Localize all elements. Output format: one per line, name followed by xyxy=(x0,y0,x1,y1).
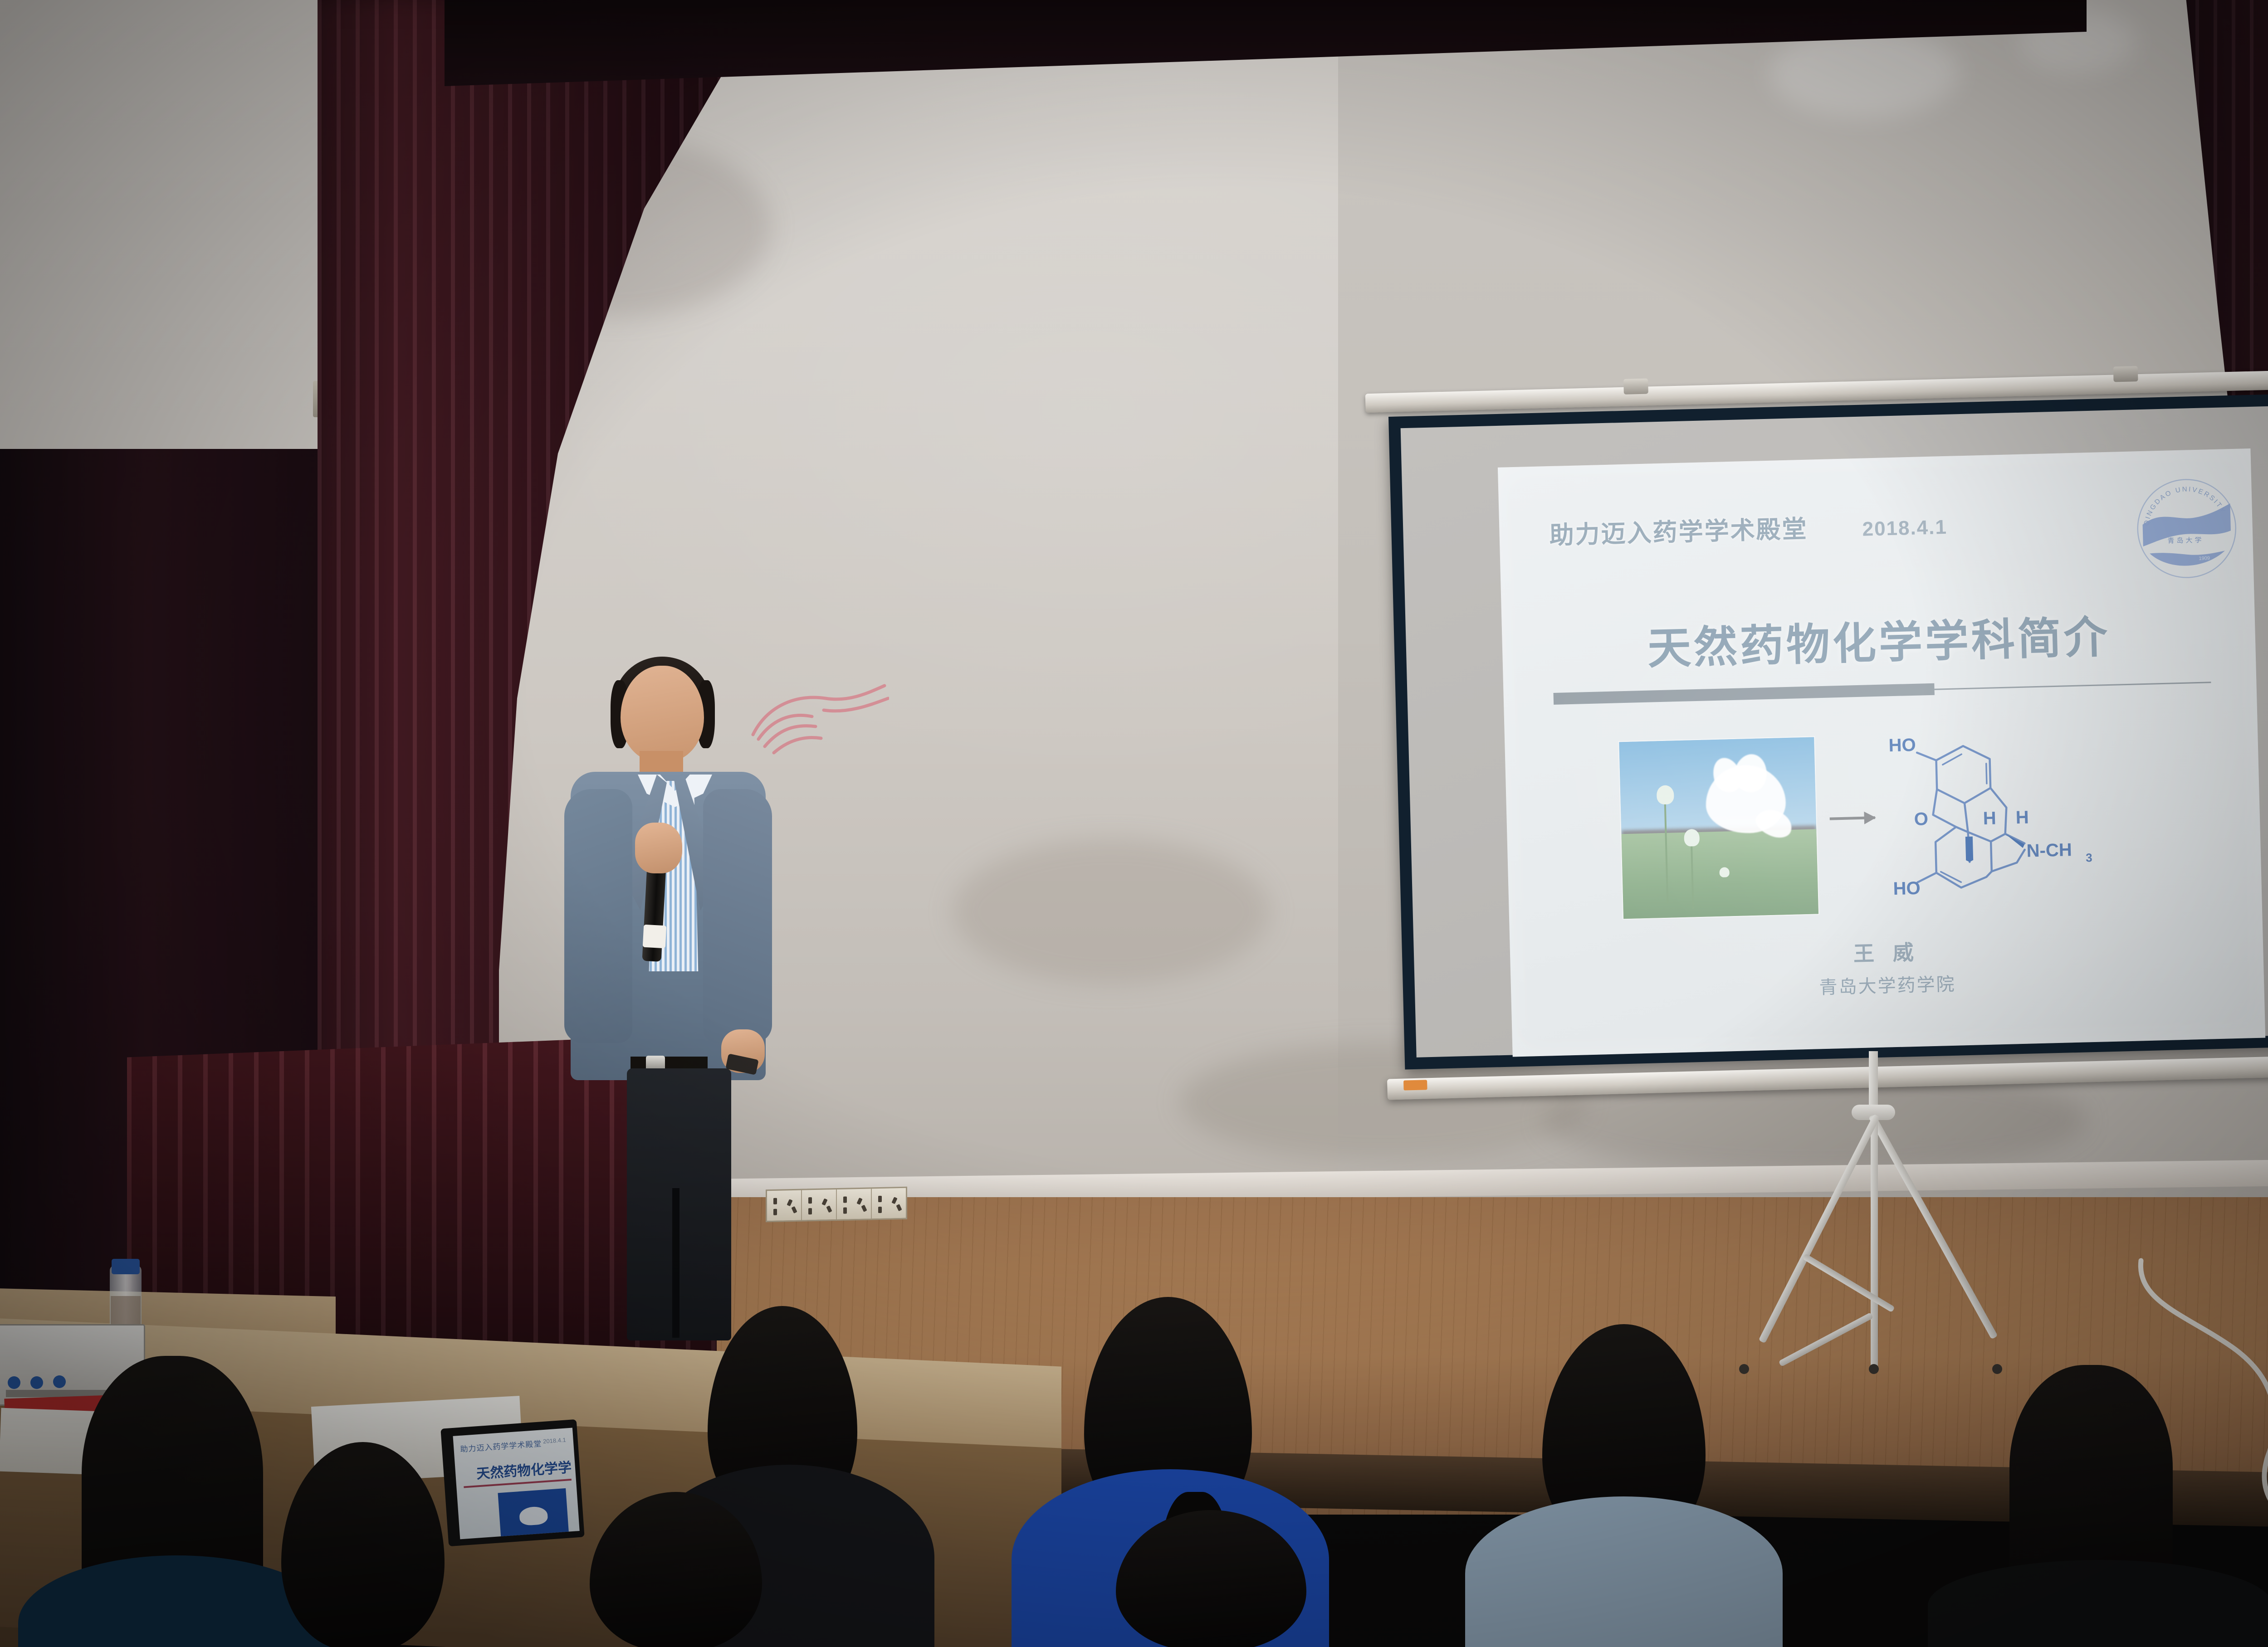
tripod-leg xyxy=(1759,1114,1880,1343)
presenter-hand-holding-mic xyxy=(635,823,682,873)
bottle-cap[interactable] xyxy=(112,1259,140,1274)
presenter xyxy=(567,653,821,1342)
presenter-laptop[interactable]: 助力迈入药学学术殿堂 2018.4.1 天然药物化学学 xyxy=(440,1419,584,1546)
slide-author-block: 王 威 青岛大学药学院 xyxy=(1510,927,2264,1007)
tripod-brace xyxy=(1779,1312,1874,1367)
laptop-screen[interactable]: 助力迈入药学学术殿堂 2018.4.1 天然药物化学学 xyxy=(453,1428,579,1540)
amplifier-knob[interactable] xyxy=(53,1375,66,1388)
morphine-structure-diagram: HO HO O H H N-CH 3 xyxy=(1886,723,2172,925)
svg-text:HO: HO xyxy=(1888,735,1916,756)
svg-text:H: H xyxy=(2015,808,2029,828)
slide-header: 助力迈入药学学术殿堂 2018.4.1 xyxy=(1549,505,1948,551)
slide-accent-bar xyxy=(1554,683,1935,705)
laptop-slide-flower xyxy=(519,1506,548,1526)
bottle-label xyxy=(111,1296,141,1324)
screen-surface: 助力迈入药学学术殿堂 2018.4.1 QINGDAO UNIVERSITY xyxy=(1401,402,2268,1057)
amplifier-knob[interactable] xyxy=(30,1376,43,1389)
svg-text:HO: HO xyxy=(1893,878,1921,899)
lecture-hall-photo: 助力迈入药学学术殿堂 2018.4.1 QINGDAO UNIVERSITY xyxy=(0,0,2268,1647)
laptop-slide-title: 天然药物化学学 xyxy=(476,1456,572,1483)
presenter-arm-right xyxy=(703,789,772,1043)
svg-text:3: 3 xyxy=(2086,851,2092,864)
slide-date: 2018.4.1 xyxy=(1862,516,1947,541)
slide-title: 天然药物化学学科简介 xyxy=(1501,598,2256,680)
outlet-socket[interactable] xyxy=(872,1188,906,1219)
screen-tripod-stand[interactable] xyxy=(1733,1070,2014,1406)
projected-slide: 助力迈入药学学术殿堂 2018.4.1 QINGDAO UNIVERSITY xyxy=(1498,448,2265,1057)
presenter-arm-left xyxy=(564,789,632,1043)
projection-screen-assembly[interactable]: 助力迈入药学学术殿堂 2018.4.1 QINGDAO UNIVERSITY xyxy=(1370,371,2268,1133)
amplifier-knob[interactable] xyxy=(8,1376,20,1389)
screen-frame: 助力迈入药学学术殿堂 2018.4.1 QINGDAO UNIVERSITY xyxy=(1388,390,2268,1070)
screen-rail-bracket xyxy=(2113,366,2138,382)
tripod-mast xyxy=(1869,1051,1878,1106)
laptop-slide-date: 2018.4.1 xyxy=(543,1437,567,1445)
slide-subtitle: 助力迈入药学学术殿堂 xyxy=(1549,509,1809,551)
screen-pull-tab[interactable] xyxy=(1403,1080,1427,1090)
poppy-field-photo xyxy=(1619,737,1818,919)
microphone-band xyxy=(643,925,667,949)
audience-shoulders xyxy=(1928,1560,2268,1647)
tripod-brace xyxy=(1802,1253,1895,1312)
poppy-pod xyxy=(1657,785,1674,804)
screen-rail-bracket xyxy=(1623,378,1648,394)
reaction-arrow-icon xyxy=(1830,816,1875,820)
svg-text:青岛大学: 青岛大学 xyxy=(2167,536,2204,545)
tripod-foot xyxy=(1869,1364,1879,1374)
laptop-slide-subtitle: 助力迈入药学学术殿堂 xyxy=(460,1437,542,1454)
tripod-foot xyxy=(1739,1364,1749,1374)
svg-text:N-CH: N-CH xyxy=(2026,840,2072,861)
poppy-bud xyxy=(1719,867,1730,877)
slide-divider-line xyxy=(1935,682,2211,690)
tripod-foot xyxy=(1992,1364,2002,1374)
outlet-socket[interactable] xyxy=(837,1189,872,1219)
svg-text:O: O xyxy=(1914,809,1928,829)
qingdao-university-logo: QINGDAO UNIVERSITY 青岛大学 1909 xyxy=(2133,475,2240,582)
tripod-leg xyxy=(1871,1116,1878,1369)
audience-shoulders xyxy=(1465,1496,1783,1647)
svg-text:1909: 1909 xyxy=(2199,555,2210,561)
trouser-leg-split xyxy=(672,1188,679,1338)
svg-text:H: H xyxy=(1983,808,1996,828)
laptop-slide-image xyxy=(498,1488,569,1540)
poppy-pod xyxy=(1684,829,1700,847)
presenter-head xyxy=(621,666,704,762)
